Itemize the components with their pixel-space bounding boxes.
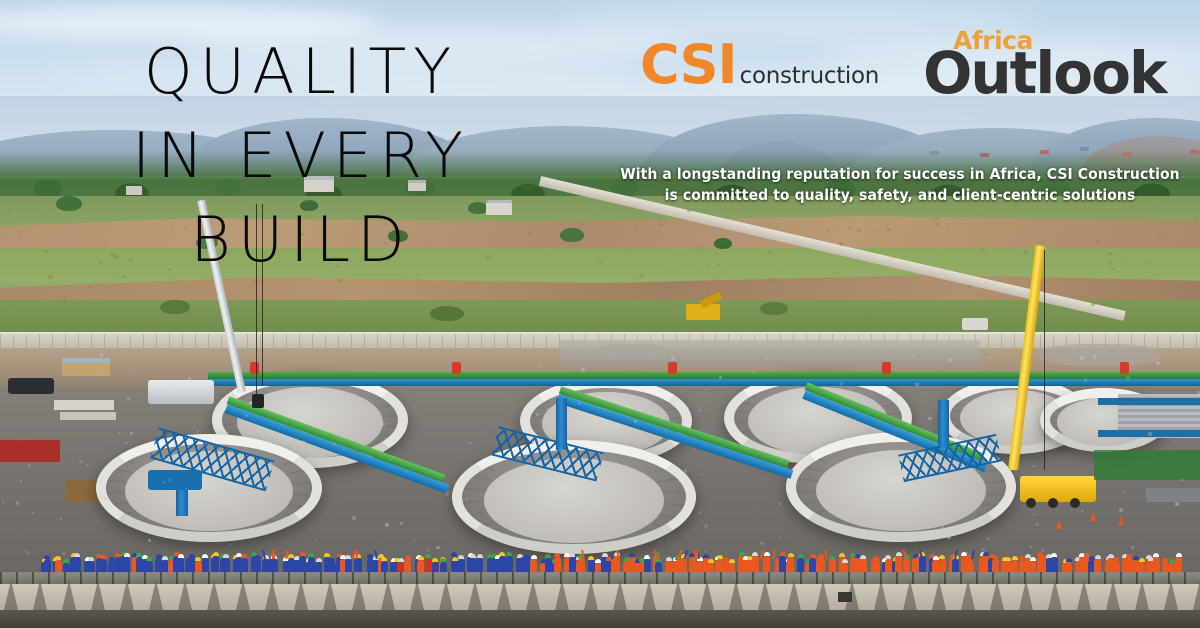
hard-hat [788, 553, 794, 557]
wall-buttress [352, 580, 366, 610]
terrain-texture [54, 202, 55, 203]
terrain-texture [331, 327, 333, 329]
shrub [430, 306, 464, 321]
terrain-texture [603, 323, 607, 326]
terrain-texture [1091, 303, 1095, 306]
gantry-post [1120, 362, 1129, 374]
gravel-texture [22, 439, 25, 442]
gravel-texture [637, 386, 638, 387]
gravel-texture [547, 441, 550, 444]
headline-line-2: IN EVERY [64, 114, 538, 198]
gravel-texture [1123, 490, 1126, 493]
gravel-texture [385, 523, 389, 527]
hard-hat [308, 553, 314, 557]
terrain-texture [1174, 209, 1178, 212]
gravel-texture [352, 516, 356, 520]
hard-hat [1169, 559, 1175, 563]
wall-buttress [294, 580, 308, 610]
gravel-texture [469, 442, 471, 444]
terrain-texture [934, 217, 938, 220]
gravel-texture [483, 430, 484, 431]
terrain-texture [1146, 262, 1148, 263]
gantry-post [882, 362, 891, 374]
terrain-texture [40, 303, 41, 304]
terrain-texture [687, 209, 691, 212]
hard-hat [842, 559, 848, 563]
hard-hat [1139, 558, 1145, 562]
hard-hat [63, 559, 69, 563]
terrain-texture [968, 303, 969, 304]
wall-buttress [555, 580, 569, 610]
gravel-texture [130, 373, 132, 375]
crane-wheel [1070, 498, 1080, 508]
gravel-texture [761, 434, 763, 436]
gravel-texture [188, 377, 192, 381]
wall-buttress [497, 580, 511, 610]
crane-hook-block [252, 394, 264, 408]
wall-buttress [729, 580, 743, 610]
terrain-texture [201, 318, 205, 321]
hard-hat [324, 553, 330, 557]
wall-buttress [178, 580, 192, 610]
terrain-texture [886, 228, 890, 231]
pipe-stack [54, 400, 114, 410]
gravel-texture [889, 504, 892, 507]
gravel-texture [196, 391, 197, 392]
gravel-texture [1080, 356, 1084, 360]
gravel-texture [229, 544, 231, 546]
terrain-texture [981, 249, 985, 252]
hard-hat [162, 556, 168, 560]
hard-hat [554, 553, 560, 557]
terrain-texture [702, 284, 706, 287]
terrain-texture [43, 249, 48, 252]
gravel-texture [634, 420, 637, 423]
wall-buttress [990, 580, 1004, 610]
wall-buttress [787, 580, 801, 610]
gravel-texture [1041, 527, 1043, 529]
hard-hat [810, 554, 816, 558]
hard-hat [146, 557, 152, 561]
csi-wordmark: CSI [640, 38, 737, 92]
crane-counterweight [148, 470, 202, 490]
gantry-walkway-green [208, 372, 1200, 379]
terrain-texture [875, 248, 876, 249]
worker-raised-arm [971, 550, 975, 559]
wall-buttress [439, 580, 453, 610]
hard-hat [531, 555, 537, 559]
gravel-texture [488, 527, 492, 531]
gravel-texture [841, 417, 843, 419]
terrain-texture [729, 291, 733, 294]
hard-hat [729, 559, 735, 563]
gravel-texture [1033, 514, 1035, 516]
gravel-texture [536, 413, 539, 416]
hard-hat [1153, 553, 1159, 557]
gravel-texture [1051, 368, 1053, 370]
wall-buttress [874, 580, 888, 610]
terrain-texture [62, 295, 66, 298]
terrain-texture [627, 249, 630, 251]
gravel-texture [462, 447, 463, 448]
wall-buttress [1135, 580, 1149, 610]
hard-hat [752, 552, 758, 556]
gravel-texture [567, 506, 570, 509]
gravel-texture [684, 469, 687, 472]
pipe-stack [60, 412, 116, 420]
gravel-texture [489, 487, 492, 490]
gravel-texture [125, 442, 127, 444]
wall-buttress [4, 580, 18, 610]
hard-hat [644, 555, 650, 559]
gravel-texture [1169, 452, 1170, 453]
shrub [560, 228, 584, 242]
terrain-texture [810, 324, 812, 325]
hard-hat [506, 552, 512, 556]
headline-line-1: QUALITY [64, 30, 538, 114]
gravel-texture [292, 416, 293, 417]
terrain-texture [679, 250, 681, 252]
terrain-texture [41, 213, 45, 216]
terrain-texture [653, 234, 655, 235]
hard-hat [666, 557, 672, 561]
worker [554, 557, 561, 573]
crane-wheel [1026, 498, 1036, 508]
gravel-texture [1175, 502, 1179, 506]
gravel-texture [963, 480, 967, 484]
terrain-texture [301, 306, 302, 307]
gravel-texture [186, 488, 187, 489]
poster-canvas: {"n":190} QUALITY IN EVERY BUILD CSI con… [0, 0, 1200, 628]
terrain-texture [48, 275, 53, 278]
gravel-texture [942, 526, 945, 529]
gravel-texture [1070, 510, 1072, 512]
gravel-texture [126, 479, 128, 481]
gravel-texture [1119, 508, 1122, 511]
terrain-texture [649, 292, 652, 294]
hard-hat [109, 557, 115, 561]
hard-hat [499, 552, 505, 556]
gravel-texture [609, 502, 611, 504]
wall-buttress [236, 580, 250, 610]
terrain-texture [418, 317, 420, 319]
terrain-texture [1120, 262, 1122, 264]
terrain-texture [936, 223, 940, 226]
gravel-texture [178, 446, 180, 448]
terrain-texture [1108, 262, 1112, 265]
terrain-texture [1100, 301, 1104, 304]
terrain-texture [117, 324, 121, 327]
worker [506, 556, 513, 572]
gravel-texture [210, 389, 213, 392]
hard-hat [440, 558, 446, 562]
csi-construction-label: construction [740, 65, 879, 88]
gravel-texture [462, 499, 465, 502]
worker-raised-arm [772, 550, 774, 559]
rubble [1040, 344, 1160, 366]
gravel-texture [704, 524, 708, 528]
wall-buttress [91, 580, 105, 610]
africa-outlook-logo[interactable]: Africa Outlook [923, 28, 1165, 102]
terrain-texture [472, 299, 473, 300]
gravel-texture [1112, 399, 1113, 400]
gravel-texture [1182, 418, 1184, 420]
terrain-texture [240, 307, 242, 308]
hard-hat [156, 554, 162, 558]
hard-hat [818, 554, 824, 558]
gravel-texture [445, 492, 448, 495]
worker-raised-arm [272, 550, 275, 559]
wall-buttress [671, 580, 685, 610]
green-equipment [1094, 450, 1200, 480]
terrain-texture [564, 242, 567, 244]
crane-wheel [1048, 498, 1058, 508]
terrain-texture [985, 282, 987, 283]
terrain-texture [469, 307, 470, 308]
wall-buttress [381, 580, 395, 610]
terrain-texture [788, 245, 791, 247]
gravel-texture [814, 519, 815, 520]
hard-hat [316, 558, 322, 562]
wall-buttress [1048, 580, 1062, 610]
gantry-post [668, 362, 677, 374]
gravel-texture [779, 503, 781, 505]
terrain-texture [889, 284, 892, 286]
gravel-texture [755, 511, 757, 513]
hard-hat [425, 554, 431, 558]
gravel-texture [413, 538, 415, 540]
hard-hat [1005, 557, 1011, 561]
hard-hat [178, 554, 184, 558]
hard-hat [829, 559, 835, 563]
wall-buttress [932, 580, 946, 610]
terrain-texture [1020, 323, 1024, 326]
gravel-texture [245, 414, 247, 416]
terrain-texture [708, 266, 711, 268]
worker [689, 557, 696, 573]
hard-hat [470, 554, 476, 558]
hard-hat [101, 555, 107, 559]
site-office [62, 358, 110, 376]
hard-hat [545, 554, 551, 558]
hard-hat [703, 554, 709, 558]
hard-hat [873, 556, 879, 560]
wall-buttress [961, 580, 975, 610]
hard-hat [432, 558, 438, 562]
terrain-texture [1147, 232, 1150, 234]
gravel-texture [578, 402, 581, 405]
hard-hat [629, 553, 635, 557]
gravel-texture [581, 368, 585, 372]
terrain-texture [310, 317, 314, 320]
hard-hat [896, 552, 902, 556]
hard-hat [1162, 558, 1168, 562]
hard-hat [588, 556, 594, 560]
hard-hat [1066, 558, 1072, 562]
terrain-texture [293, 290, 296, 292]
gravel-texture [79, 460, 83, 464]
terrain-texture [600, 302, 604, 304]
hard-hat [55, 556, 61, 560]
terrain-texture [725, 241, 727, 242]
terrain-texture [1108, 252, 1113, 255]
wall-buttress [758, 580, 772, 610]
pipe-run [1098, 398, 1200, 405]
gravel-texture [948, 358, 952, 362]
hard-hat [477, 554, 483, 558]
gravel-texture [987, 537, 990, 540]
logo-bar: CSI construction Africa Outlook [640, 26, 1160, 104]
gravel-texture [196, 430, 199, 433]
terrain-texture [1086, 320, 1091, 323]
gravel-texture [407, 407, 408, 408]
terrain-texture [573, 201, 578, 204]
wall-buttress [642, 580, 656, 610]
terrain-texture [1021, 317, 1025, 320]
hard-hat [381, 557, 387, 561]
gravel-texture [562, 529, 565, 532]
headline-line-3: BUILD [64, 198, 538, 282]
terrain-texture [612, 319, 614, 321]
hard-hat [860, 555, 866, 559]
gravel-texture [818, 411, 820, 413]
terrain-texture [713, 223, 714, 224]
gravel-texture [698, 409, 700, 411]
terrain-texture [63, 299, 67, 302]
hard-hat [764, 552, 770, 556]
hard-hat [88, 557, 94, 561]
gravel-texture [988, 356, 991, 359]
worker-raised-arm [683, 550, 688, 559]
hard-hat [255, 555, 261, 559]
hard-hat [1012, 556, 1018, 560]
gravel-texture [597, 368, 598, 369]
gravel-texture [1006, 496, 1007, 497]
outlook-wordmark: Outlook [923, 44, 1165, 102]
gravel-texture [840, 382, 844, 386]
gravel-texture [1062, 359, 1064, 361]
site-vehicle [962, 318, 988, 330]
wall-buttress [149, 580, 163, 610]
worker-raised-arm [825, 550, 828, 559]
terrain-texture [956, 317, 959, 319]
hard-hat [288, 554, 294, 558]
mobile-crane-body [148, 380, 214, 404]
terrain-texture [550, 247, 552, 248]
hard-hat [1095, 555, 1101, 559]
terrain-texture [639, 274, 644, 277]
gravel-texture [594, 515, 595, 516]
wall-buttress [526, 580, 540, 610]
gravel-texture [701, 473, 703, 475]
gravel-texture [32, 512, 34, 514]
wall-buttress [323, 580, 337, 610]
site-equipment [8, 378, 54, 394]
hard-hat [213, 552, 219, 556]
hard-hat [44, 555, 50, 559]
terrain-texture [805, 295, 808, 297]
gravel-texture [612, 386, 614, 388]
terrain-texture [717, 263, 721, 266]
wall-buttress [1193, 580, 1200, 610]
wall-buttress [410, 580, 424, 610]
gravel-texture [518, 463, 520, 465]
terrain-texture [692, 282, 697, 285]
rubble [596, 344, 666, 360]
terrain-texture [1023, 250, 1028, 253]
hard-hat [717, 555, 723, 559]
hard-hat [1126, 554, 1132, 558]
wall-buttress [1106, 580, 1120, 610]
gravel-texture [1093, 355, 1096, 358]
terrain-texture [635, 225, 639, 228]
hard-hat [839, 553, 845, 557]
crane-mast [938, 400, 949, 448]
hard-hat [1113, 557, 1119, 561]
terrain-texture [1175, 220, 1176, 221]
hard-hat [405, 556, 411, 560]
hard-hat [1030, 557, 1036, 561]
hard-hat [124, 553, 130, 557]
hard-hat [885, 555, 891, 559]
gravel-texture [915, 383, 919, 387]
wall-buttress [207, 580, 221, 610]
gravel-texture [555, 535, 557, 537]
crane-cable [1044, 250, 1045, 470]
terrain-texture [35, 284, 36, 285]
gravel-texture [448, 371, 450, 373]
csi-construction-logo[interactable]: CSI construction [640, 38, 879, 92]
gravel-texture [100, 353, 104, 357]
worker [895, 556, 902, 572]
shrub [714, 238, 732, 249]
gravel-texture [16, 501, 19, 504]
shrub [160, 300, 190, 314]
hard-hat [451, 552, 457, 556]
gantry-post [250, 362, 259, 374]
gravel-texture [104, 497, 107, 500]
hard-hat [74, 553, 80, 557]
gravel-texture [997, 440, 1001, 444]
crane-mast [556, 398, 567, 450]
terrain-texture [1116, 250, 1118, 251]
hard-hat [300, 552, 306, 556]
hard-hat [1051, 553, 1057, 557]
gravel-texture [912, 355, 914, 357]
gantry-post [452, 362, 461, 374]
hard-hat [458, 555, 464, 559]
wall-buttress [1164, 580, 1178, 610]
wall-buttress [816, 580, 830, 610]
terrain-texture [771, 278, 776, 281]
terrain-texture [396, 311, 399, 313]
hard-hat [569, 553, 575, 557]
wall-opening [838, 592, 852, 602]
gravel-texture [719, 376, 721, 378]
terrain-texture [678, 281, 683, 284]
gravel-texture [957, 478, 961, 482]
gravel-texture [634, 406, 637, 409]
gravel-texture [302, 440, 306, 444]
terrain-texture [1169, 228, 1170, 229]
hard-hat [195, 557, 201, 561]
wall-buttress [903, 580, 917, 610]
hard-hat [202, 554, 208, 558]
terrain-texture [716, 279, 720, 282]
wall-buttress [700, 580, 714, 610]
terrain-texture [966, 214, 967, 215]
terrain-texture [1002, 293, 1003, 294]
